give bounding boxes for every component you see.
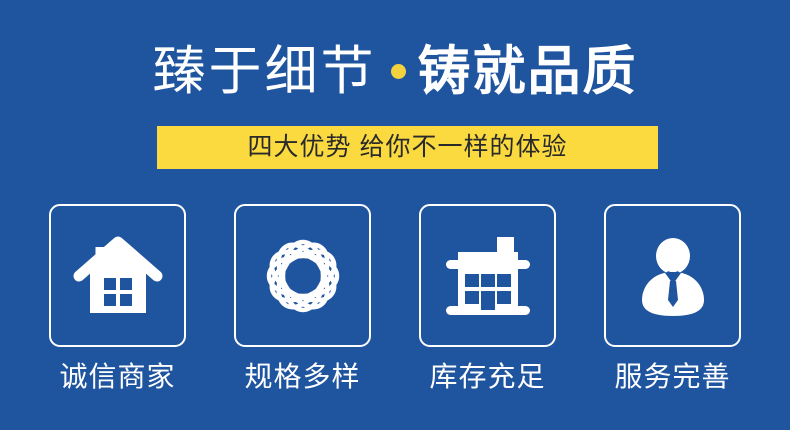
subtitle-bar: 四大优势 给你不一样的体验 xyxy=(157,126,658,169)
feature-label: 服务完善 xyxy=(614,363,730,391)
headline: 臻于细节 铸就品质 xyxy=(0,33,790,109)
feature-item-ample-stock: 库存充足 xyxy=(416,204,559,414)
promo-banner: 臻于细节 铸就品质 四大优势 给你不一样的体验 xyxy=(0,0,790,430)
warehouse-building-icon xyxy=(440,228,536,324)
feature-label: 库存充足 xyxy=(429,363,545,391)
headline-bold-text: 铸就品质 xyxy=(418,45,638,98)
atom-orbit-icon xyxy=(255,228,351,324)
feature-list: 诚信商家 规格多 xyxy=(46,204,744,414)
feature-item-varied-specs: 规格多样 xyxy=(231,204,374,414)
feature-icon-box xyxy=(234,204,371,347)
person-with-tie-icon xyxy=(625,228,721,324)
feature-item-trusted-merchant: 诚信商家 xyxy=(46,204,189,414)
feature-item-complete-service: 服务完善 xyxy=(601,204,744,414)
house-icon xyxy=(70,228,166,324)
feature-icon-box xyxy=(604,204,741,347)
feature-label: 规格多样 xyxy=(244,363,360,391)
yellow-dot-icon xyxy=(391,64,406,79)
subtitle-text: 四大优势 给你不一样的体验 xyxy=(248,135,568,160)
feature-label: 诚信商家 xyxy=(59,363,175,391)
feature-icon-box xyxy=(419,204,556,347)
headline-light-text: 臻于细节 xyxy=(153,45,377,98)
feature-icon-box xyxy=(49,204,186,347)
